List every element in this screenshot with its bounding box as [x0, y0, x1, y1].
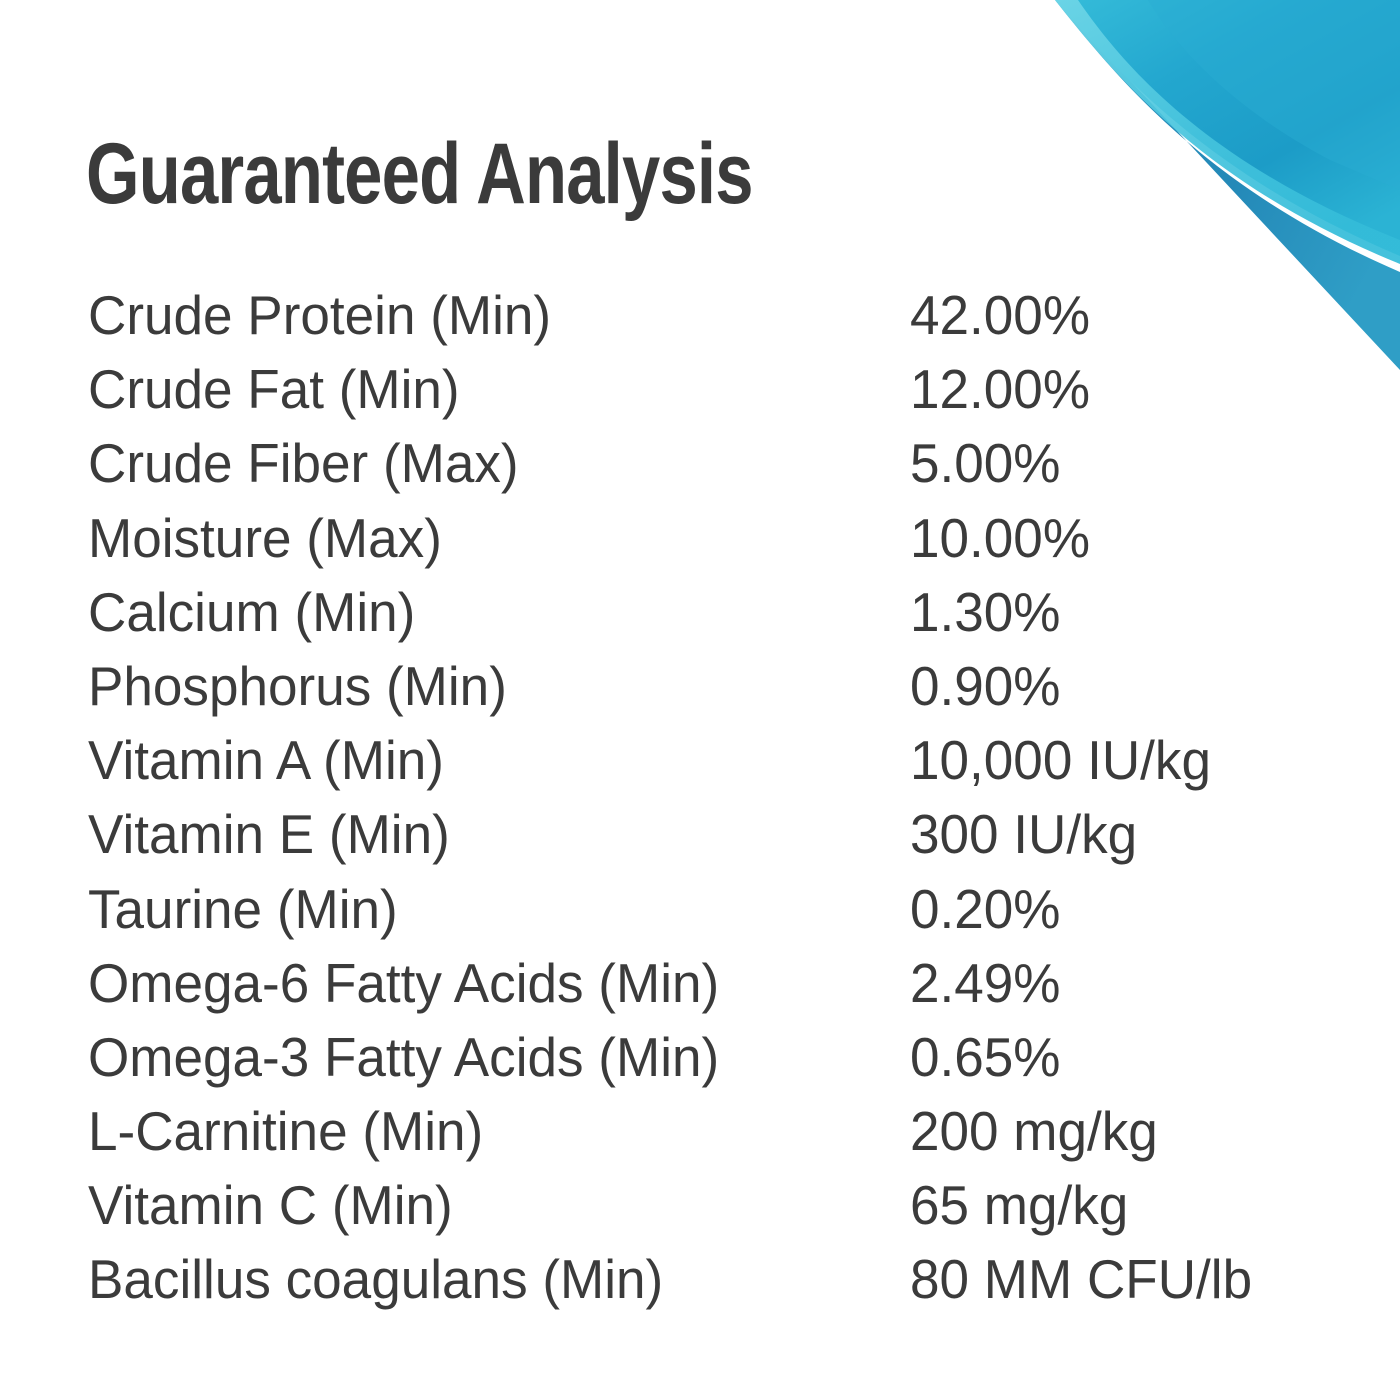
nutrient-label: Taurine (Min) — [88, 882, 881, 937]
page-title: Guaranteed Analysis — [86, 131, 753, 217]
nutrient-value: 1.30% — [910, 585, 1333, 640]
table-row: Crude Fat (Min)12.00% — [88, 362, 1348, 436]
table-row: Phosphorus (Min)0.90% — [88, 659, 1348, 733]
nutrient-label: Omega-3 Fatty Acids (Min) — [88, 1030, 881, 1085]
nutrient-value: 5.00% — [910, 436, 1333, 491]
nutrient-value: 0.20% — [910, 882, 1333, 937]
nutrient-label: Vitamin C (Min) — [88, 1178, 881, 1233]
nutrient-label: Omega-6 Fatty Acids (Min) — [88, 956, 881, 1011]
nutrient-value: 10.00% — [910, 511, 1333, 566]
nutrient-value: 65 mg/kg — [910, 1178, 1333, 1233]
table-row: Crude Protein (Min)42.00% — [88, 288, 1348, 362]
nutrient-label: Vitamin A (Min) — [88, 733, 881, 788]
nutrient-label: Moisture (Max) — [88, 511, 881, 566]
nutrient-value: 0.90% — [910, 659, 1333, 714]
table-row: Crude Fiber (Max)5.00% — [88, 436, 1348, 510]
table-row: Moisture (Max)10.00% — [88, 511, 1348, 585]
nutrient-value: 200 mg/kg — [910, 1104, 1333, 1159]
guaranteed-analysis-panel: Guaranteed Analysis Crude Protein (Min)4… — [0, 0, 1400, 1400]
nutrient-value: 12.00% — [910, 362, 1333, 417]
table-row: Taurine (Min)0.20% — [88, 882, 1348, 956]
table-row: Omega-3 Fatty Acids (Min)0.65% — [88, 1030, 1348, 1104]
nutrient-label: Crude Protein (Min) — [88, 288, 881, 343]
table-row: Bacillus coagulans (Min)80 MM CFU/lb — [88, 1252, 1348, 1326]
nutrient-label: Phosphorus (Min) — [88, 659, 881, 714]
nutrient-value: 42.00% — [910, 288, 1333, 343]
nutrient-value: 10,000 IU/kg — [910, 733, 1333, 788]
table-row: Omega-6 Fatty Acids (Min)2.49% — [88, 956, 1348, 1030]
table-row: L-Carnitine (Min)200 mg/kg — [88, 1104, 1348, 1178]
nutrient-label: L-Carnitine (Min) — [88, 1104, 881, 1159]
table-row: Vitamin A (Min)10,000 IU/kg — [88, 733, 1348, 807]
nutrient-value: 0.65% — [910, 1030, 1333, 1085]
nutrient-label: Calcium (Min) — [88, 585, 881, 640]
nutrient-label: Crude Fat (Min) — [88, 362, 881, 417]
table-row: Calcium (Min)1.30% — [88, 585, 1348, 659]
nutrient-label: Vitamin E (Min) — [88, 807, 881, 862]
nutrient-label: Bacillus coagulans (Min) — [88, 1252, 881, 1307]
nutrient-value: 300 IU/kg — [910, 807, 1333, 862]
guaranteed-analysis-table: Crude Protein (Min)42.00%Crude Fat (Min)… — [88, 288, 1348, 1327]
table-row: Vitamin C (Min)65 mg/kg — [88, 1178, 1348, 1252]
table-row: Vitamin E (Min)300 IU/kg — [88, 807, 1348, 881]
nutrient-value: 2.49% — [910, 956, 1333, 1011]
nutrient-label: Crude Fiber (Max) — [88, 436, 881, 491]
nutrient-value: 80 MM CFU/lb — [910, 1252, 1333, 1307]
